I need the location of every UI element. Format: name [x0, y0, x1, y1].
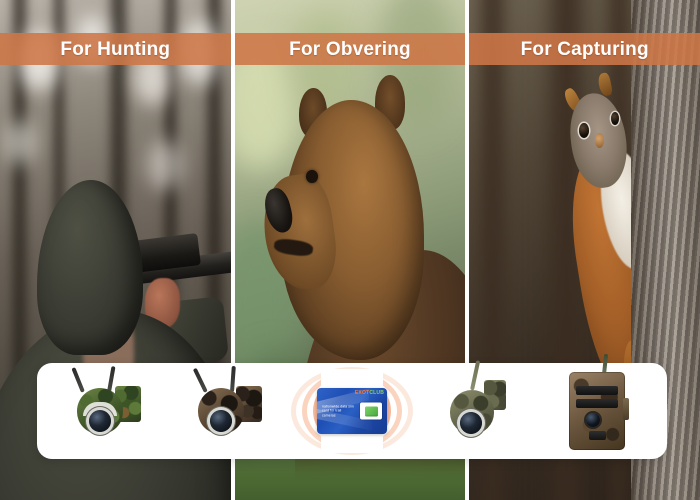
- product-slot-box-trail-cam[interactable]: [537, 363, 658, 459]
- ir-led-strip-top: [576, 386, 618, 395]
- product-slot-ptz-camo-grey[interactable]: [416, 363, 537, 459]
- sim-card-icon: EXOTCLUB nationwide data sim card for tr…: [317, 388, 387, 434]
- sim-brand-prefix: EXOT: [355, 390, 369, 396]
- camera-ptz-icon: [192, 374, 264, 448]
- camera-lens: [210, 410, 232, 432]
- sim-card-signal-group: EXOTCLUB nationwide data sim card for tr…: [288, 369, 416, 453]
- squirrel-nose: [595, 133, 604, 148]
- motion-sensor: [589, 431, 606, 440]
- panel-label-band: For Hunting For Obvering For Capturing: [0, 33, 700, 65]
- ir-led-strip-bottom: [576, 399, 618, 408]
- bear-eye: [306, 170, 318, 183]
- sim-brand-logo: EXOTCLUB: [355, 391, 384, 396]
- camera-lens: [586, 413, 600, 427]
- panel-label-hunting-text: For Hunting: [60, 40, 170, 59]
- panel-label-observing-text: For Obvering: [289, 40, 411, 59]
- product-slot-sim-card[interactable]: EXOTCLUB nationwide data sim card for tr…: [288, 363, 416, 459]
- camera-ptz-icon: [440, 374, 512, 448]
- panel-label-capturing-text: For Capturing: [521, 40, 649, 59]
- camera-ptz-icon: [71, 374, 143, 448]
- housing-latch: [623, 398, 629, 420]
- sim-tagline: nationwide data sim card for trail camer…: [322, 405, 356, 418]
- product-slot-ptz-camo-green[interactable]: [47, 363, 168, 459]
- sim-brand-suffix: CLUB: [369, 390, 384, 396]
- panel-label-observing[interactable]: For Obvering: [235, 33, 466, 65]
- sim-chip: [360, 403, 382, 420]
- camera-box-icon: [569, 372, 625, 450]
- banner-stage: For Hunting For Obvering For Capturing: [0, 0, 700, 500]
- product-slot-ptz-camo-dark[interactable]: [168, 363, 289, 459]
- panel-label-hunting[interactable]: For Hunting: [0, 33, 231, 65]
- sim-chip-contacts: [365, 406, 378, 416]
- product-showcase-card: EXOTCLUB nationwide data sim card for tr…: [37, 363, 667, 459]
- panel-label-capturing[interactable]: For Capturing: [469, 33, 700, 65]
